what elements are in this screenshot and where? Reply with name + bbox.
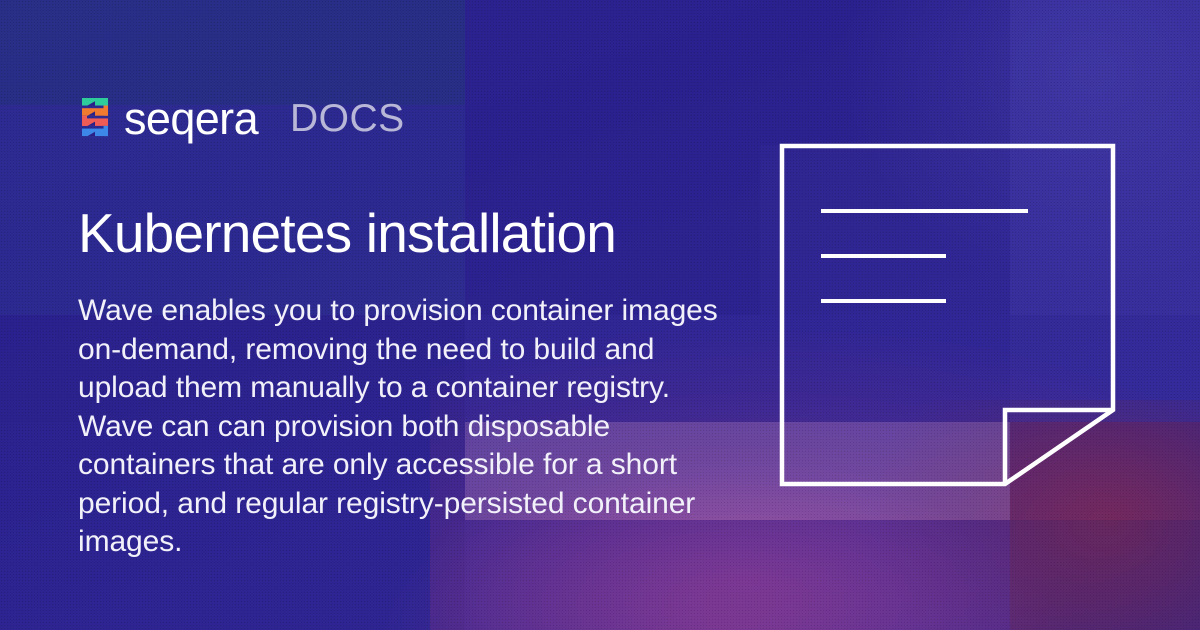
brand-wordmark: seqera [124, 96, 258, 141]
doc-outline-path [782, 146, 1113, 484]
document-page-icon [775, 139, 1120, 491]
brand-lockup: seqera DOCS [78, 92, 405, 144]
page-title: Kubernetes installation [78, 204, 616, 263]
page-description: Wave enables you to provision container … [78, 292, 723, 562]
content-layer: seqera DOCS Kubernetes installation Wave… [0, 0, 1200, 630]
og-card: seqera DOCS Kubernetes installation Wave… [0, 0, 1200, 630]
brand-section-label: DOCS [290, 99, 405, 138]
seqera-stack-logo-icon [78, 97, 112, 139]
